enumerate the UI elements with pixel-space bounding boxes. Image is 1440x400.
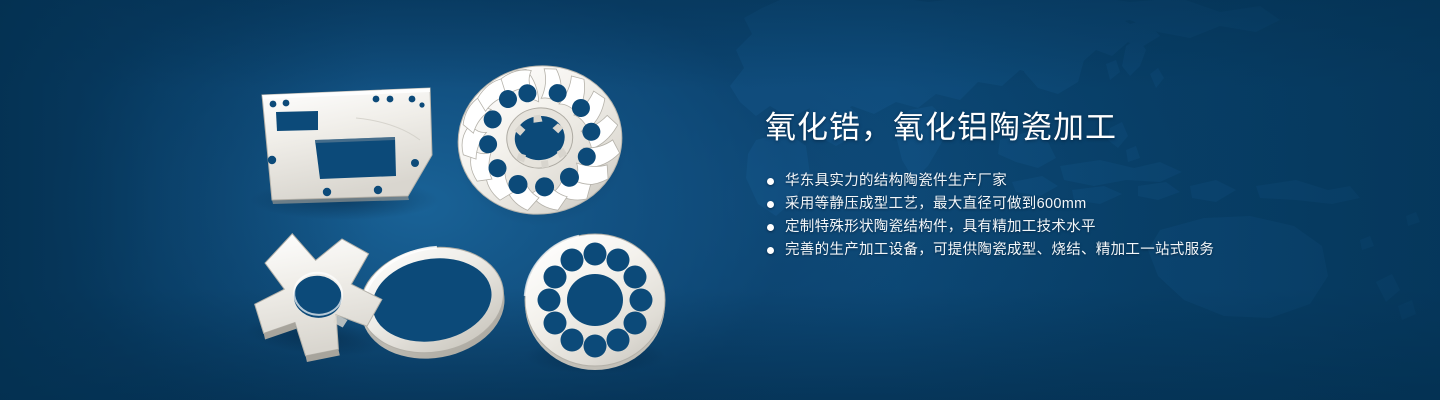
feature-list: 华东具实力的结构陶瓷件生产厂家 采用等静压成型工艺，最大直径可做到600mm 定…	[765, 170, 1385, 262]
banner-copy: 氧化锆，氧化铝陶瓷加工 华东具实力的结构陶瓷件生产厂家 采用等静压成型工艺，最大…	[765, 108, 1385, 262]
hero-banner: 氧化锆，氧化铝陶瓷加工 华东具实力的结构陶瓷件生产厂家 采用等静压成型工艺，最大…	[0, 0, 1440, 400]
list-item: 定制特殊形状陶瓷结构件，具有精加工技术水平	[767, 216, 1385, 239]
bullet-dot-icon	[767, 201, 774, 208]
list-item: 华东具实力的结构陶瓷件生产厂家	[767, 170, 1385, 193]
list-item-label: 完善的生产加工设备，可提供陶瓷成型、烧结、精加工一站式服务	[785, 239, 1214, 262]
bullet-dot-icon	[767, 178, 774, 185]
page-title: 氧化锆，氧化铝陶瓷加工	[765, 108, 1385, 148]
bullet-dot-icon	[767, 224, 774, 231]
list-item-label: 定制特殊形状陶瓷结构件，具有精加工技术水平	[785, 216, 1096, 239]
list-item-label: 华东具实力的结构陶瓷件生产厂家	[785, 170, 1007, 193]
list-item: 采用等静压成型工艺，最大直径可做到600mm	[767, 193, 1385, 216]
bullet-dot-icon	[767, 247, 774, 254]
list-item: 完善的生产加工设备，可提供陶瓷成型、烧结、精加工一站式服务	[767, 239, 1385, 262]
list-item-label: 采用等静压成型工艺，最大直径可做到600mm	[785, 193, 1086, 216]
